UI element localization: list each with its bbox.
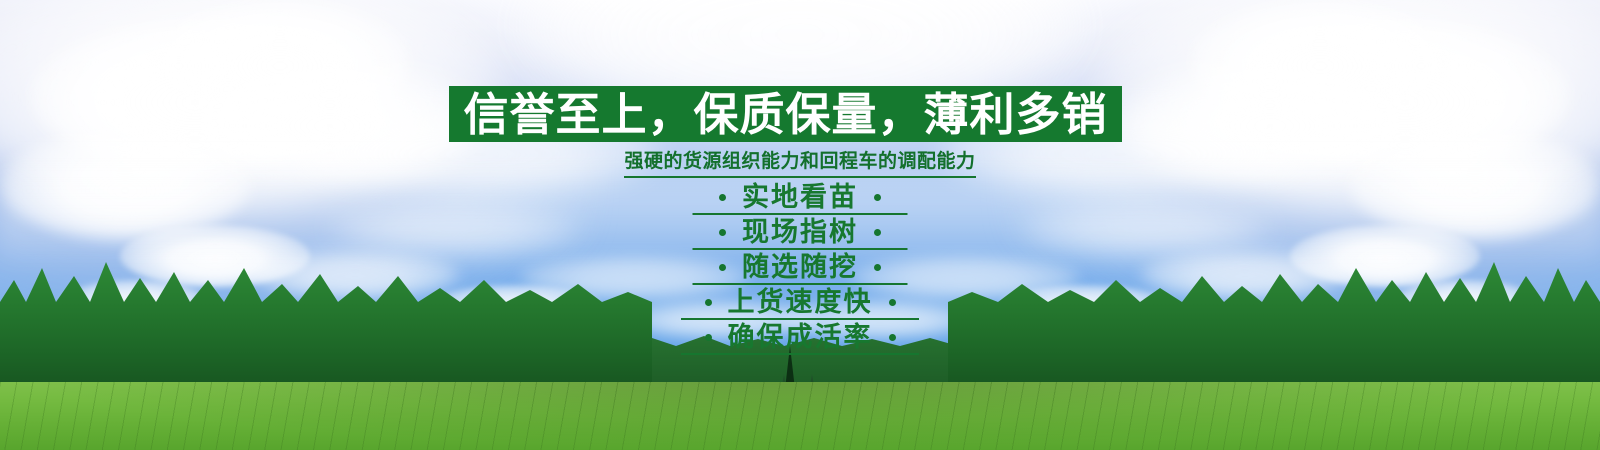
- feature-item: 确保成活率: [0, 320, 1600, 355]
- bullet-dot-icon: [719, 194, 726, 201]
- subtitle-text: 强硬的货源组织能力和回程车的调配能力: [624, 146, 975, 178]
- feature-item: 现场指树: [0, 215, 1600, 250]
- feature-label: 上货速度快: [728, 289, 873, 316]
- feature-item: 上货速度快: [0, 285, 1600, 320]
- headline-text: 信誉至上，保质保量，薄利多销: [463, 92, 1107, 137]
- feature-label: 随选随挖: [742, 254, 858, 281]
- bullet-dot-icon: [719, 229, 726, 236]
- bullet-dot-icon: [889, 299, 896, 306]
- feature-list: 实地看苗 现场指树 随选随挖 上货速度快: [0, 180, 1600, 355]
- bullet-dot-icon: [874, 229, 881, 236]
- feature-label: 现场指树: [742, 219, 858, 246]
- feature-label: 确保成活率: [728, 324, 873, 351]
- subtitle-row: 强硬的货源组织能力和回程车的调配能力: [0, 146, 1600, 178]
- bullet-dot-icon: [705, 299, 712, 306]
- headline-banner-box: 信誉至上，保质保量，薄利多销: [449, 86, 1122, 142]
- bullet-dot-icon: [874, 194, 881, 201]
- feature-divider: [681, 353, 919, 355]
- field-shadow: [0, 382, 1600, 450]
- feature-label: 实地看苗: [742, 184, 858, 211]
- feature-item: 实地看苗: [0, 180, 1600, 215]
- bullet-dot-icon: [719, 264, 726, 271]
- bullet-dot-icon: [705, 334, 712, 341]
- promo-banner: 信誉至上，保质保量，薄利多销 强硬的货源组织能力和回程车的调配能力 实地看苗 现…: [0, 0, 1600, 450]
- bullet-dot-icon: [889, 334, 896, 341]
- feature-item: 随选随挖: [0, 250, 1600, 285]
- bullet-dot-icon: [874, 264, 881, 271]
